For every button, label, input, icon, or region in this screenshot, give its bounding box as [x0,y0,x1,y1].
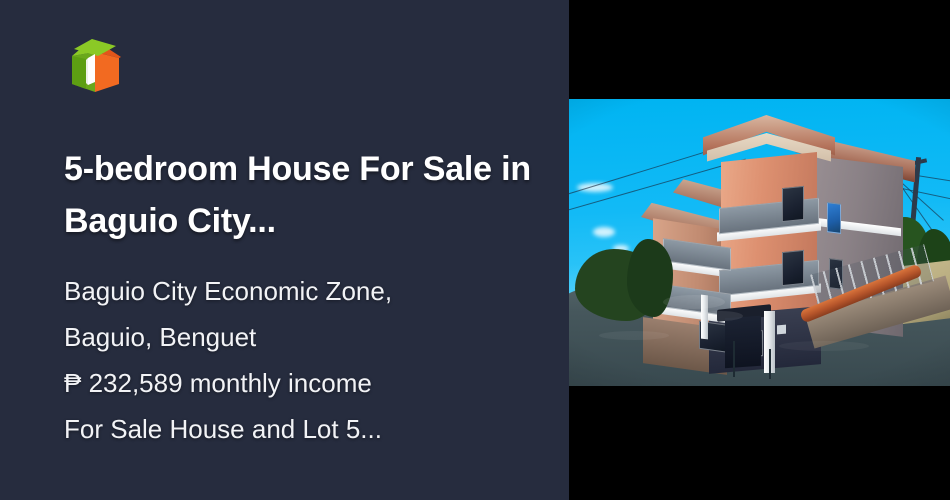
ground-post [733,341,735,377]
window [827,202,841,234]
property-photo[interactable] [569,99,950,386]
listing-price-line: ₱ 232,589 monthly income [64,360,544,406]
wall-plate [777,325,786,335]
ground-highlight [663,295,725,309]
window [782,250,804,286]
listing-details: Baguio City Economic Zone, Baguio, Bengu… [64,268,544,452]
ground-highlight [699,311,743,321]
listing-media-panel[interactable] [569,0,950,500]
listing-info-panel: 5-bedroom House For Sale in Baguio City.… [0,0,569,500]
ground-highlight [599,331,669,340]
listing-title: 5-bedroom House For Sale in Baguio City.… [64,144,534,247]
house-structure [569,99,950,386]
ground-post [769,349,771,379]
listing-address-line-2: Baguio, Benguet [64,314,544,360]
house-one-logo-icon[interactable] [64,36,126,98]
ground-highlight [779,341,869,351]
listing-address-line-1: Baguio City Economic Zone, [64,268,544,314]
listing-description: For Sale House and Lot 5... [64,406,544,452]
window [782,186,804,222]
listing-preview-card: 5-bedroom House For Sale in Baguio City.… [0,0,950,500]
entry-doorway [725,316,761,369]
